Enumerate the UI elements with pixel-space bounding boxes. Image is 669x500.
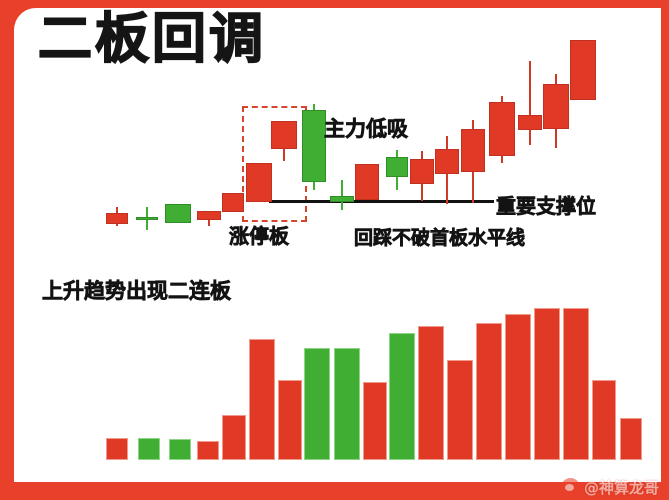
poster-frame: 二板回调 主力低吸 涨停板 重要支撑位 回踩不破首板水平线 上升趋势出现二连板 … [0, 0, 669, 500]
label-key-support: 重要支撑位 [496, 190, 596, 219]
candle-body [165, 204, 191, 223]
candle-body [570, 40, 596, 100]
candle-body [302, 110, 326, 182]
candle-body [106, 213, 128, 224]
volume-bar-5 [222, 415, 246, 460]
label-limit-up-board: 涨停板 [229, 220, 289, 249]
candlestick-chart: 主力低吸 涨停板 重要支撑位 回踩不破首板水平线 [14, 8, 669, 268]
candle-wick [341, 180, 343, 210]
candle-body [543, 84, 569, 129]
volume-bar-19 [620, 418, 642, 460]
volume-bar-series [14, 300, 669, 460]
volume-bar-16 [534, 308, 560, 460]
weibo-icon [561, 478, 580, 497]
label-main-force-buy: 主力低吸 [324, 113, 408, 143]
candle-wick [529, 61, 531, 145]
volume-chart: 上升趋势出现二连板 [14, 263, 669, 478]
volume-bar-7 [278, 380, 302, 460]
candle-body [435, 149, 459, 174]
volume-bar-17 [563, 308, 589, 460]
volume-bar-3 [169, 439, 191, 460]
volume-bar-14 [476, 323, 502, 460]
candle-4 [197, 8, 221, 268]
candle-body [489, 102, 515, 156]
volume-bar-12 [418, 326, 444, 460]
candle-body [386, 157, 408, 177]
candle-body [355, 164, 379, 200]
label-pullback-note: 回踩不破首板水平线 [354, 223, 525, 250]
volume-bar-1 [106, 438, 128, 460]
volume-bar-8 [304, 348, 330, 460]
candle-body [246, 163, 272, 202]
candle-17 [543, 8, 569, 268]
candle-body [410, 159, 434, 184]
candle-body [330, 196, 354, 202]
candle-3 [165, 8, 191, 268]
candle-body [222, 193, 244, 212]
volume-bar-10 [363, 382, 387, 460]
candle-body [197, 211, 221, 220]
poster-card: 二板回调 主力低吸 涨停板 重要支撑位 回踩不破首板水平线 上升趋势出现二连板 [14, 8, 661, 482]
watermark: @神算龙哥 [561, 477, 659, 498]
volume-bar-9 [334, 348, 360, 460]
volume-bar-6 [249, 339, 275, 460]
candle-body [518, 115, 542, 130]
volume-bar-4 [197, 441, 219, 460]
candle-body [271, 121, 297, 149]
volume-bar-13 [447, 360, 473, 460]
candle-2 [136, 8, 158, 268]
volume-bar-11 [389, 333, 415, 460]
watermark-handle: @神算龙哥 [584, 477, 659, 498]
candle-body [136, 217, 158, 220]
candle-8 [302, 8, 326, 268]
volume-bar-15 [505, 314, 531, 460]
volume-bar-2 [138, 438, 160, 460]
candle-1 [106, 8, 128, 268]
candle-body [461, 129, 485, 172]
candle-18 [570, 8, 596, 268]
volume-bar-18 [592, 380, 616, 460]
